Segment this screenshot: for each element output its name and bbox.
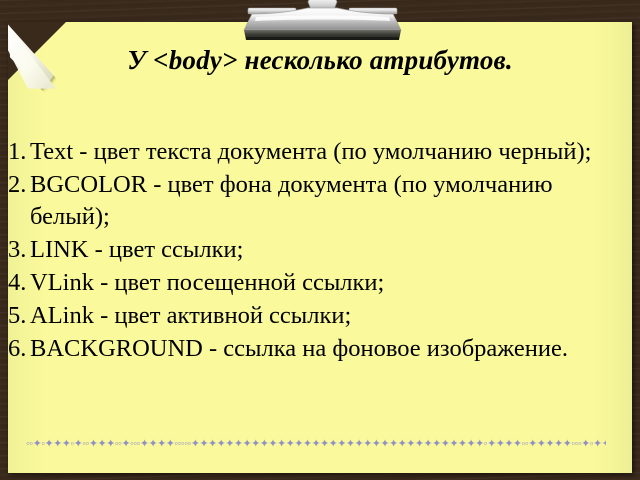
list-item-number: 5. xyxy=(8,300,30,332)
list-item-text: BGCOLOR - цвет фона документа (по умолча… xyxy=(30,171,553,230)
list-item-number: 6. xyxy=(8,333,30,365)
bead-row: ◦◦✦◦✦✦✦◦✦◦◦✦✦✦◦◦✦◦◦◦✦✦✦✦◦◦◦◦◦✦✦✦✦✦✦✦✦✦✦✦… xyxy=(26,438,606,450)
list-item: 5.ALink - цвет активной ссылки; xyxy=(8,300,608,332)
attributes-list: 1.Text - цвет текста документа (по умолч… xyxy=(8,136,608,366)
list-item-text: VLink - цвет посещенной ссылки; xyxy=(30,269,384,296)
list-item: 1.Text - цвет текста документа (по умолч… xyxy=(8,136,608,168)
decorative-bead-divider: ◦◦✦◦✦✦✦◦✦◦◦✦✦✦◦◦✦◦◦◦✦✦✦✦◦◦◦◦◦✦✦✦✦✦✦✦✦✦✦✦… xyxy=(26,438,606,450)
list-item: 6.BACKGROUND - ссылка на фоновое изображ… xyxy=(8,333,608,365)
list-item-text: BACKGROUND - ссылка на фоновое изображен… xyxy=(30,335,568,362)
slide-title: У <body> несколько атрибутов. xyxy=(0,45,640,76)
list-item: 2.BGCOLOR - цвет фона документа (по умол… xyxy=(8,169,608,233)
list-item-number: 2. xyxy=(8,169,30,201)
list-item: 3.LINK - цвет ссылки; xyxy=(8,234,608,266)
list-item-number: 1. xyxy=(8,136,30,168)
list-item: 4.VLink - цвет посещенной ссылки; xyxy=(8,267,608,299)
list-item-text: ALink - цвет активной ссылки; xyxy=(30,302,351,329)
list-item-number: 3. xyxy=(8,234,30,266)
list-item-number: 4. xyxy=(8,267,30,299)
list-item-text: LINK - цвет ссылки; xyxy=(30,236,243,263)
list-item-text: Text - цвет текста документа (по умолчан… xyxy=(30,138,591,165)
slide-canvas: У <body> несколько атрибутов. 1.Text - ц… xyxy=(0,0,640,480)
